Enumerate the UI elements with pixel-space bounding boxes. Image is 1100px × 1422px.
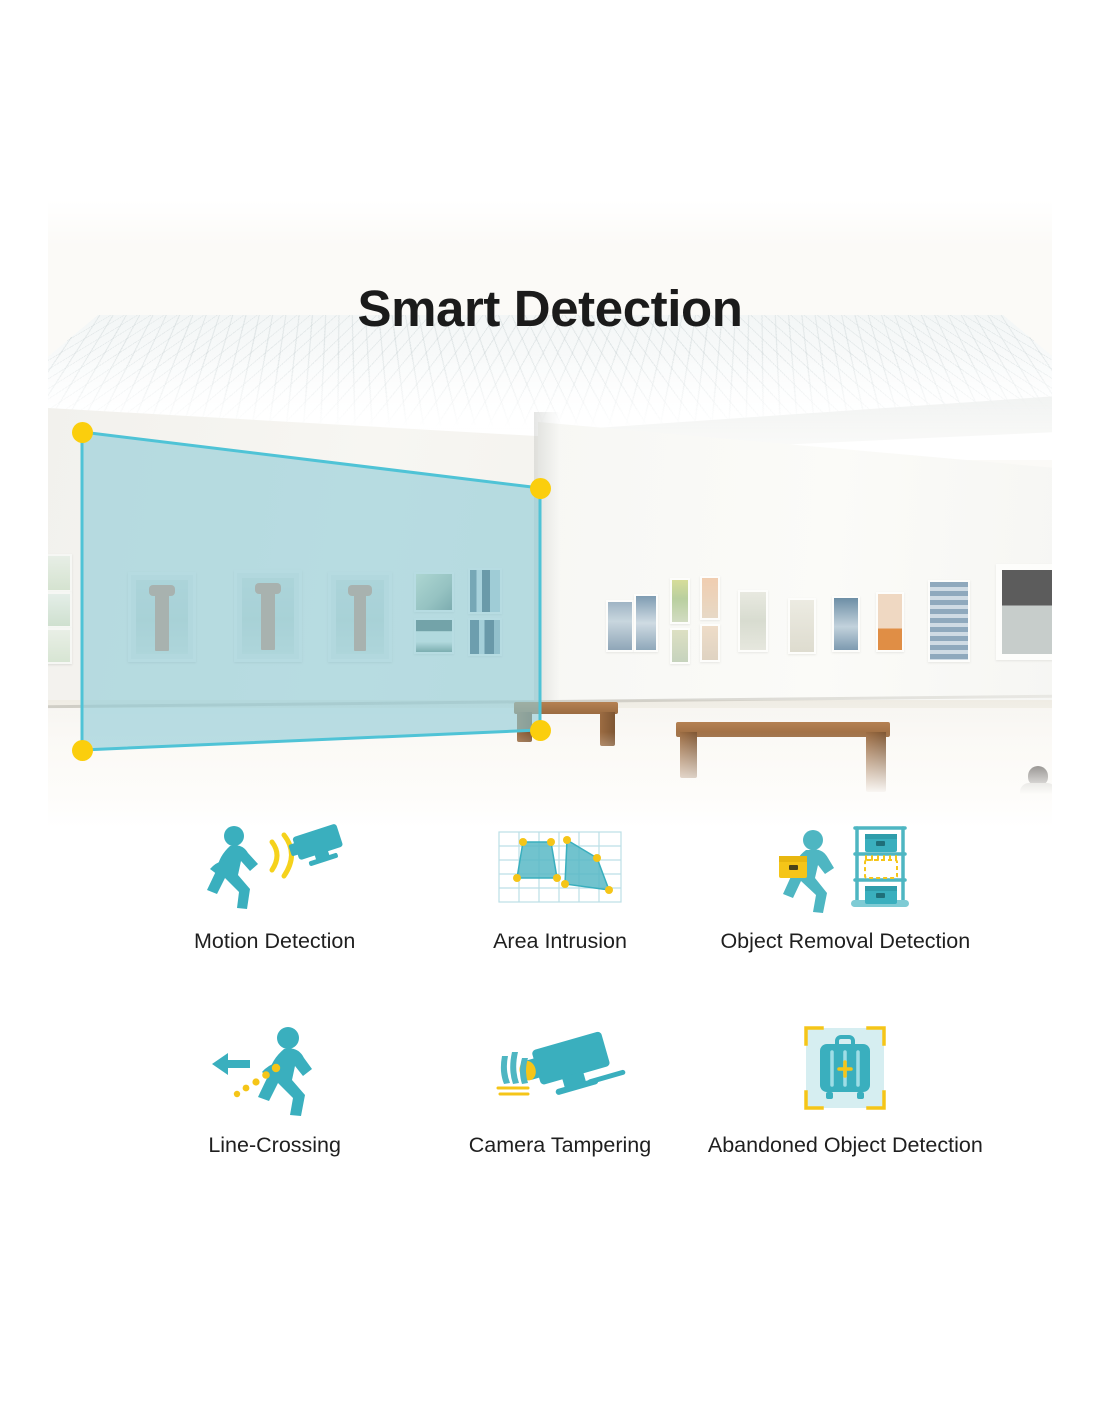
feature-grid: Motion Detection: [132, 818, 988, 1158]
abandoned-object-icon-box: [703, 1022, 988, 1118]
ceiling-top-edge: [48, 200, 1052, 246]
smart-detection-page: Smart Detection: [0, 0, 1100, 1422]
camera-tampering-icon-box: [417, 1022, 702, 1118]
artwork-edge-1: [48, 554, 72, 592]
artwork-small-3: [468, 568, 502, 614]
wall-corner-shadow: [534, 412, 560, 732]
artwork-right-9: [832, 596, 860, 652]
feature-area-intrusion[interactable]: Area Intrusion: [417, 818, 702, 954]
feature-label: Motion Detection: [132, 928, 417, 954]
artwork-edge-2: [48, 592, 72, 628]
page-title: Smart Detection: [0, 279, 1100, 338]
artwork-small-2: [414, 618, 454, 654]
artwork-column-motif: [261, 583, 275, 650]
feature-label: Area Intrusion: [417, 928, 702, 954]
artwork-edge-3: [48, 628, 72, 664]
feature-label: Line-Crossing: [132, 1132, 417, 1158]
motion-detection-icon-box: [132, 818, 417, 914]
person-crossing-dotted-line-arrow-icon: [200, 1022, 350, 1118]
artwork-small-1: [414, 572, 454, 612]
artwork-right-12: [996, 564, 1052, 660]
feature-object-removal-detection[interactable]: Object Removal Detection: [703, 818, 988, 954]
artwork-column-1: [128, 572, 196, 662]
feature-label: Object Removal Detection: [703, 928, 988, 954]
artwork-right-3: [670, 578, 690, 624]
artwork-right-10: [876, 592, 904, 652]
feature-motion-detection[interactable]: Motion Detection: [132, 818, 417, 954]
grid-lines: [499, 832, 621, 902]
person-carrying-box-shelf-icon: [765, 818, 925, 914]
artwork-small-4: [468, 618, 502, 656]
grid-polygons-icon: [485, 818, 635, 914]
feature-camera-tampering[interactable]: Camera Tampering: [417, 1022, 702, 1158]
artwork-right-6: [700, 624, 720, 662]
artwork-column-3: [328, 572, 392, 662]
artwork-right-1: [606, 600, 634, 652]
feature-line-crossing[interactable]: Line-Crossing: [132, 1022, 417, 1158]
artwork-right-5: [700, 576, 720, 620]
artwork-right-7: [738, 590, 768, 652]
artwork-column-motif: [354, 585, 367, 651]
artwork-right-11: [928, 580, 970, 662]
artwork-column-2: [234, 570, 302, 662]
artwork-right-4: [670, 628, 690, 664]
feature-label: Camera Tampering: [417, 1132, 702, 1158]
photo-bottom-fade: [48, 732, 1052, 828]
running-person-signal-camera-icon: [200, 818, 350, 914]
artwork-right-8: [788, 598, 816, 654]
feature-label: Abandoned Object Detection: [703, 1132, 988, 1158]
suitcase-in-brackets-icon: [790, 1022, 900, 1118]
camera-spray-tamper-icon: [480, 1022, 640, 1118]
artwork-column-motif: [155, 585, 169, 651]
artwork-right-2: [634, 594, 658, 652]
feature-abandoned-object-detection[interactable]: Abandoned Object Detection: [703, 1022, 988, 1158]
object-removal-icon-box: [703, 818, 988, 914]
area-intrusion-icon-box: [417, 818, 702, 914]
line-crossing-icon-box: [132, 1022, 417, 1118]
